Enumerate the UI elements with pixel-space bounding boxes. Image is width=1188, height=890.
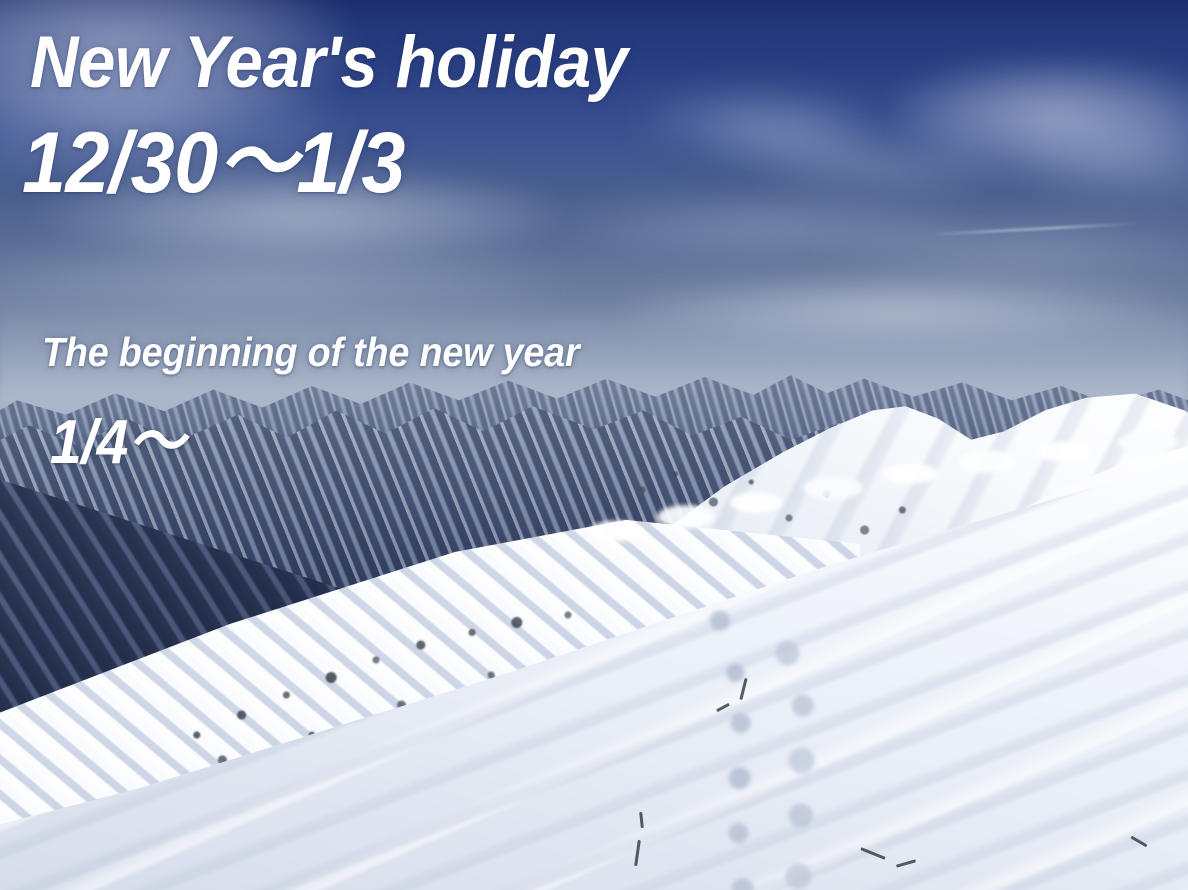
- new-year-holiday-poster: New Year's holiday 12/30～1/3 The beginni…: [0, 0, 1188, 890]
